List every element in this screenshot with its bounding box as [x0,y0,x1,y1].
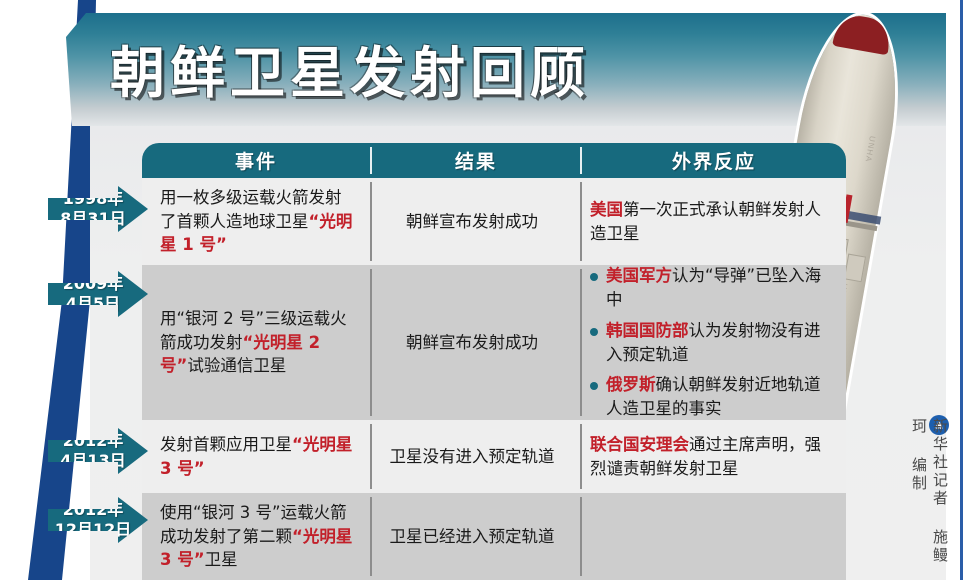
body-text: 卫星 [205,550,238,569]
highlight-text: 美国 [590,200,623,219]
page-title: 朝鲜卫星发射回顾 [110,28,590,108]
cell-reaction [590,493,834,580]
table-row: 用“银河 2 号”三级运载火箭成功发射“光明星 2 号”试验通信卫星朝鲜宣布发射… [142,265,846,420]
highlight-text: 俄罗斯 [606,375,656,394]
reaction-bullet-item: 俄罗斯确认朝鲜发射近地轨道人造卫星的事实 [590,373,834,421]
credit-text: 新华社记者 施鳗珂 编制 [925,418,951,580]
reaction-paragraph: 联合国安理会通过主席声明，强烈谴责朝鲜发射卫星 [590,433,834,481]
cell-event-text: 发射首颗应用卫星“光明星 3 号” [160,433,356,481]
table-row: 发射首颗应用卫星“光明星 3 号”卫星没有进入预定轨道联合国安理会通过主席声明，… [142,420,846,493]
cell-result: 卫星已经进入预定轨道 [374,493,570,580]
cell-reaction: 美国军方认为“导弹”已坠入海中韩国国防部认为发射物没有进入预定轨道俄罗斯确认朝鲜… [590,265,834,420]
reaction-bullet-item: 美国军方认为“导弹”已坠入海中 [590,264,834,312]
cell-divider-1 [370,497,372,576]
cell-result-text: 卫星已经进入预定轨道 [390,525,555,549]
cell-result-text: 朝鲜宣布发射成功 [406,331,538,355]
cell-event: 用一枚多级运载火箭发射了首颗人造地球卫星“光明星 1 号” [160,178,356,265]
reaction-bullet-list: 美国军方认为“导弹”已坠入海中韩国国防部认为发射物没有进入预定轨道俄罗斯确认朝鲜… [590,264,834,422]
cell-divider-1 [370,182,372,261]
body-text: 试验通信卫星 [187,356,286,375]
reaction-paragraph: 美国第一次正式承认朝鲜发射人造卫星 [590,198,834,246]
table-row: 使用“银河 3 号”运载火箭成功发射了第二颗“光明星 3 号”卫星卫星已经进入预… [142,493,846,580]
cell-reaction: 美国第一次正式承认朝鲜发射人造卫星 [590,178,834,265]
cell-event: 使用“银河 3 号”运载火箭成功发射了第二颗“光明星 3 号”卫星 [160,493,356,580]
cell-divider-2 [580,182,582,261]
table-column-header-result: 结果 [372,143,580,178]
cell-event-text: 使用“银河 3 号”运载火箭成功发射了第二颗“光明星 3 号”卫星 [160,501,356,573]
highlight-text: 联合国安理会 [590,435,689,454]
right-edge-accent [960,0,963,580]
cell-divider-2 [580,424,582,489]
body-text: 第一次正式承认朝鲜发射人造卫星 [590,200,821,243]
table-header-bar: 事件 结果 外界反应 [142,143,846,178]
cell-event: 发射首颗应用卫星“光明星 3 号” [160,420,356,493]
cell-divider-2 [580,497,582,576]
cell-result: 朝鲜宣布发射成功 [374,265,570,420]
body-text: 发射首颗应用卫星 [160,435,292,454]
cell-result: 卫星没有进入预定轨道 [374,420,570,493]
table-column-header-reaction: 外界反应 [582,143,846,178]
table-column-header-event: 事件 [142,143,370,178]
highlight-text: 韩国国防部 [606,321,689,340]
cell-divider-1 [370,269,372,416]
cell-result-text: 朝鲜宣布发射成功 [406,210,538,234]
cell-divider-2 [580,269,582,416]
cell-result-text: 卫星没有进入预定轨道 [390,445,555,469]
table-row: 用一枚多级运载火箭发射了首颗人造地球卫星“光明星 1 号”朝鲜宣布发射成功美国第… [142,178,846,265]
cell-event: 用“银河 2 号”三级运载火箭成功发射“光明星 2 号”试验通信卫星 [160,265,356,420]
cell-result: 朝鲜宣布发射成功 [374,178,570,265]
infographic-root: 朝鲜卫星发射回顾 UNHA UNHA-3 ★ [0,0,973,580]
highlight-text: 美国军方 [606,266,672,285]
reaction-bullet-item: 韩国国防部认为发射物没有进入预定轨道 [590,319,834,367]
cell-divider-1 [370,424,372,489]
cell-event-text: 用一枚多级运载火箭发射了首颗人造地球卫星“光明星 1 号” [160,186,356,258]
cell-reaction: 联合国安理会通过主席声明，强烈谴责朝鲜发射卫星 [590,420,834,493]
cell-event-text: 用“银河 2 号”三级运载火箭成功发射“光明星 2 号”试验通信卫星 [160,307,356,379]
